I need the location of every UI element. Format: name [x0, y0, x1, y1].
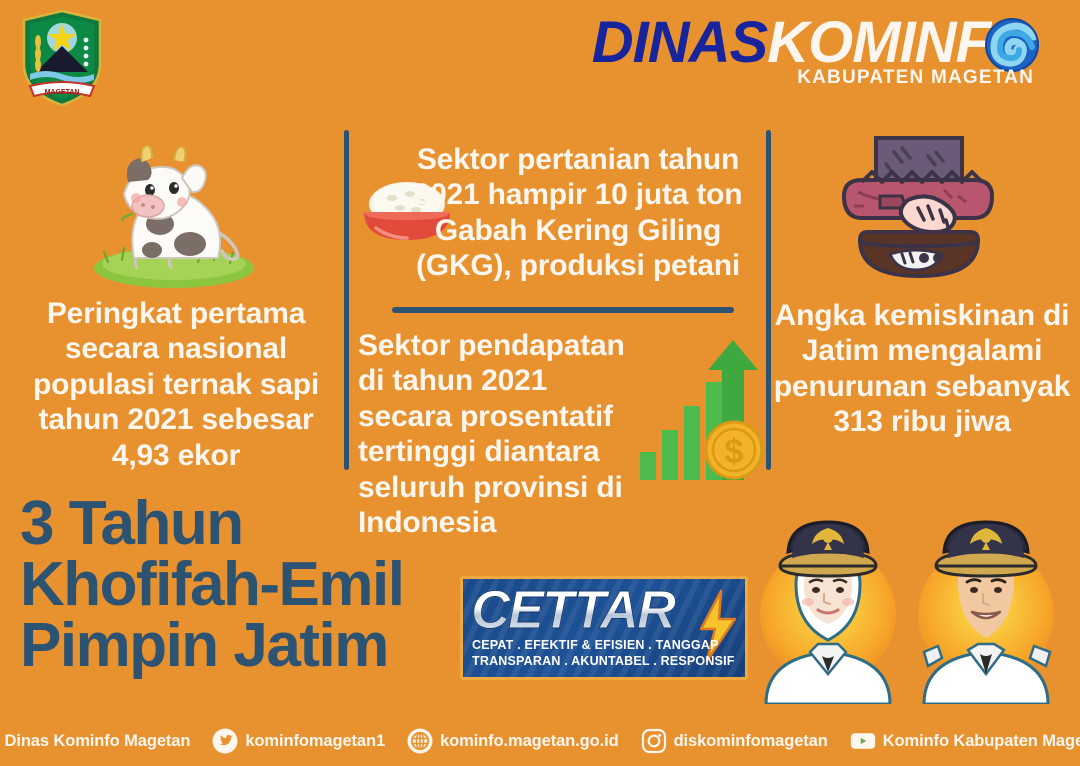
cow-on-grass-illustration — [78, 132, 270, 292]
globe-icon[interactable] — [407, 728, 433, 754]
twitter-icon[interactable] — [212, 728, 238, 754]
stat-text-agriculture: Sektor pertanian tahun 2021 hampir 10 ju… — [400, 142, 756, 284]
social-item-youtube[interactable]: Kominfo Kabupaten Magetan — [850, 728, 1080, 754]
stat-text-livestock: Peringkat pertama secara nasional popula… — [18, 296, 334, 473]
social-item-twitter[interactable]: kominfomagetan1 — [212, 728, 385, 754]
social-label-twitter: kominfomagetan1 — [245, 732, 385, 751]
brand-dinas-text: DINAS — [592, 14, 767, 72]
growth-chart-with-coin-illustration: $ — [634, 334, 766, 486]
svg-text:MAGETAN: MAGETAN — [45, 89, 80, 96]
brand-kominfo-text: KOMINF — [767, 14, 990, 72]
kominfo-swirl-logo-icon — [984, 17, 1040, 73]
divider-vertical-right — [766, 130, 771, 470]
social-media-footer: Dinas Kominfo Magetan kominfomagetan1 ko… — [0, 728, 1080, 754]
male-official-in-white-uniform — [918, 522, 1054, 704]
social-label-youtube: Kominfo Kabupaten Magetan — [883, 732, 1080, 751]
headline-line-1: 3 Tahun — [20, 494, 480, 555]
social-label-instagram: diskominfomagetan — [674, 732, 828, 751]
headline-line-3: Pimpin Jatim — [20, 616, 480, 677]
headline-line-2: Khofifah-Emil — [20, 555, 480, 616]
social-item-website[interactable]: kominfo.magetan.go.id — [407, 728, 619, 754]
poverty-empty-bowl-illustration — [824, 134, 1014, 294]
cettar-logo-banner: CETTAR CEPAT . EFEKTIF & EFISIEN . TANGG… — [460, 576, 748, 680]
cettar-tagline-line-1: CEPAT . EFEKTIF & EFISIEN . TANGGAP — [472, 638, 745, 654]
divider-vertical-left — [344, 130, 349, 470]
cettar-tagline-line-2: TRANSPARAN . AKUNTABEL . RESPONSIF — [472, 654, 745, 670]
social-label-facebook: Dinas Kominfo Magetan — [5, 732, 191, 751]
stat-text-poverty: Angka kemiskinan di Jatim mengalami penu… — [772, 298, 1072, 440]
social-label-website: kominfo.magetan.go.id — [440, 732, 619, 751]
infographic-poster: MAGETAN DINAS KOMINF KABUPATEN MAGETAN — [0, 0, 1080, 766]
cettar-tagline: CEPAT . EFEKTIF & EFISIEN . TANGGAP TRAN… — [472, 638, 745, 669]
social-item-instagram[interactable]: diskominfomagetan — [641, 728, 828, 754]
page-title: 3 Tahun Khofifah-Emil Pimpin Jatim — [20, 494, 480, 676]
brand-lockup: DINAS KOMINF KABUPATEN MAGETAN — [592, 14, 1040, 87]
instagram-icon[interactable] — [641, 728, 667, 754]
magetan-regency-emblem: MAGETAN — [16, 8, 108, 108]
youtube-icon[interactable] — [850, 728, 876, 754]
divider-horizontal-middle — [392, 307, 734, 313]
social-item-facebook[interactable]: Dinas Kominfo Magetan — [0, 728, 190, 754]
svg-text:$: $ — [725, 433, 744, 471]
khofifah-emil-portraits — [748, 518, 1078, 704]
female-official-in-white-uniform — [760, 522, 896, 704]
